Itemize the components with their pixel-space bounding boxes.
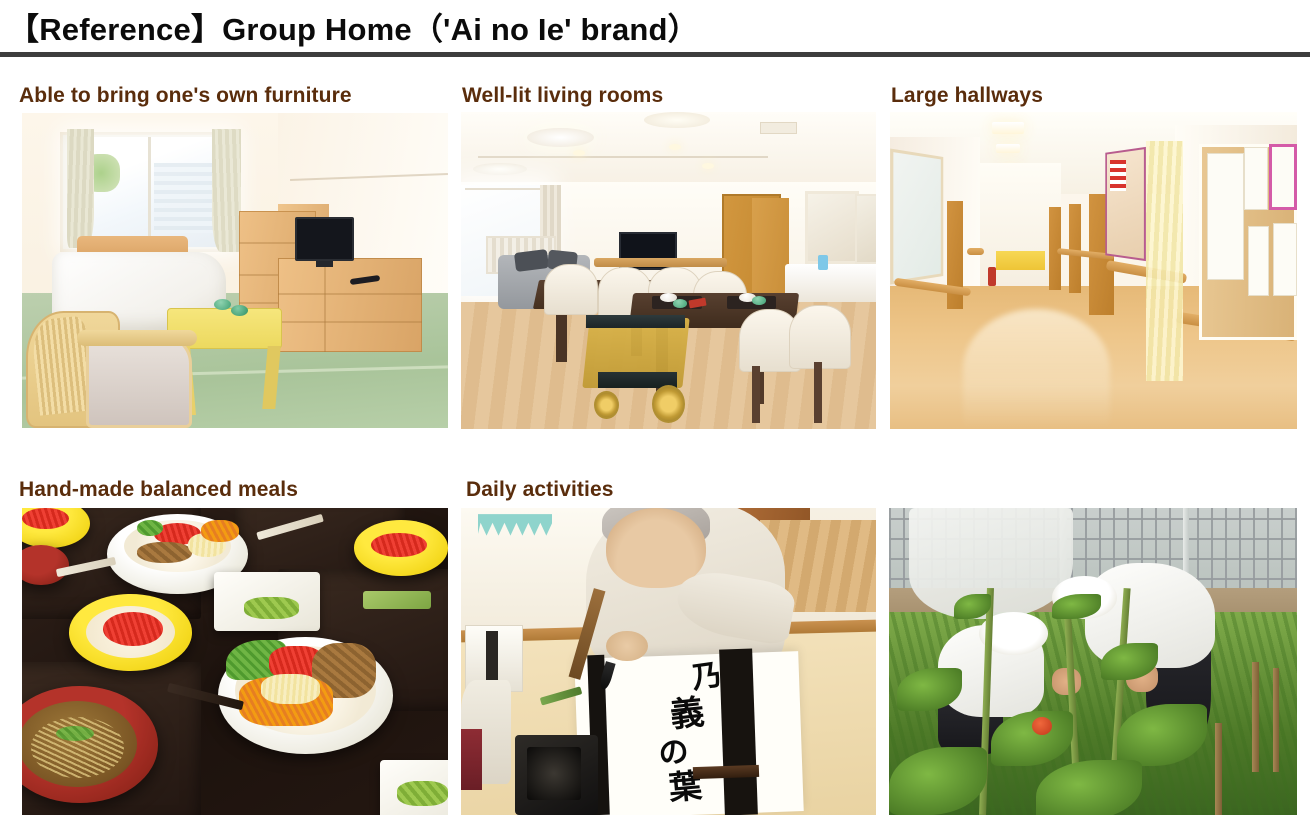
living-door-panel [752, 198, 789, 303]
section-heading-hallway: Large hallways [891, 84, 1043, 108]
hallway-yellow-towels [996, 251, 1045, 270]
room-curtain-left [67, 129, 95, 249]
living-handrail [594, 258, 727, 268]
living-soap-dispenser [818, 255, 828, 271]
living-cart-top-shelf [586, 315, 686, 328]
photo-hallway [890, 112, 1297, 429]
room-tv-stand [316, 261, 333, 267]
hallway-ceiling-lamp-2 [996, 144, 1020, 154]
room-low-drawer-line-1 [278, 293, 423, 295]
living-ceiling-light-3 [644, 112, 710, 128]
reference-slide: 【Reference】Group Home（'Ai no Ie' brand） … [0, 0, 1310, 815]
calligraphy-glyph-2: 義 [669, 695, 706, 732]
living-chair-1 [544, 264, 598, 315]
living-downlight-3 [702, 163, 714, 169]
calligraphy-paper-border-right [720, 649, 759, 815]
living-bowl-2 [673, 299, 688, 308]
hallway-ceiling-lamp-1 [992, 122, 1025, 135]
hallway-floor-reflection [963, 309, 1110, 429]
calligraphy-resident-hand [606, 631, 648, 662]
living-chair-5-leg [752, 366, 760, 423]
garden-stake-6 [1273, 668, 1280, 772]
hallway-door-far-2 [1069, 204, 1081, 293]
section-heading-living: Well-lit living rooms [462, 84, 663, 108]
hallway-poster-3 [1269, 144, 1297, 211]
living-mirror-1 [805, 191, 859, 264]
room-curtain-right [212, 129, 242, 252]
living-ceiling-step [478, 156, 769, 158]
living-chair-6-leg [814, 362, 822, 422]
garden-stake-5 [1252, 662, 1259, 773]
meal-topping-tomato-main [103, 612, 163, 646]
living-cart-wheel-2 [652, 385, 685, 423]
room-window-mullion [148, 137, 151, 247]
meal-pickled-cucumber [244, 597, 299, 618]
meal-topping-egg-main [261, 674, 321, 705]
room-low-drawer-line-2 [278, 321, 423, 323]
calligraphy-glyph-3: の [657, 737, 690, 770]
hallway-poster-1 [1207, 153, 1244, 280]
hallway-handrail-left-far [967, 248, 983, 254]
living-window-transom [465, 188, 540, 190]
page-title: 【Reference】Group Home（'Ai no Ie' brand） [8, 4, 699, 49]
living-chair-6 [789, 305, 851, 368]
living-downlight-2 [669, 144, 681, 150]
calligraphy-paper-weight [693, 765, 760, 780]
garden-stake-4 [1215, 723, 1222, 815]
room-low-drawer-divider [324, 258, 326, 353]
meal-topping-carrot-top [201, 520, 239, 541]
meal-side-dish-greens [397, 781, 448, 806]
living-bowl-4 [752, 296, 767, 305]
meal-side-dish-green [363, 591, 431, 609]
photo-meals [22, 508, 448, 815]
hallway-fire-extinguisher [988, 267, 996, 286]
meal-topping-meat-top [137, 542, 192, 563]
calligraphy-resident-head [606, 508, 706, 588]
photo-living-room [461, 112, 876, 429]
calligraphy-inkstone-well [527, 747, 581, 799]
photo-private-room [22, 113, 448, 428]
section-heading-furniture: Able to bring one's own furniture [19, 84, 352, 108]
living-cart-wheel-1 [594, 391, 619, 420]
section-heading-meals: Hand-made balanced meals [19, 478, 298, 502]
room-teacup-1 [214, 299, 231, 310]
hallway-poster-2 [1244, 147, 1268, 210]
meal-topping-tomato-right [371, 533, 426, 558]
calligraphy-glyph-1: 乃 [690, 661, 724, 695]
room-armchair-armrest [77, 330, 196, 346]
hallway-window-left [890, 149, 943, 285]
meal-topping-greens-top [137, 520, 163, 535]
hallway-poster-4 [1248, 226, 1268, 296]
photo-calligraphy-activity: 乃 義 の 葉 [461, 508, 876, 815]
living-mirror-2 [855, 194, 876, 264]
room-armchair [86, 334, 193, 429]
photo-gardening [889, 508, 1297, 815]
room-teacup-2 [231, 305, 248, 316]
living-ceiling-light-1 [527, 128, 593, 147]
title-divider [0, 52, 1310, 57]
calligraphy-neighbour-clothing [461, 729, 482, 790]
hallway-poster-5 [1273, 223, 1297, 296]
living-ceiling-vent [760, 122, 797, 135]
room-television [295, 217, 355, 261]
room-dresser-low [278, 258, 423, 353]
hallway-artwork-ribbon [1110, 160, 1126, 192]
section-heading-activities: Daily activities [466, 478, 614, 502]
hallway-curtain [1146, 141, 1183, 382]
